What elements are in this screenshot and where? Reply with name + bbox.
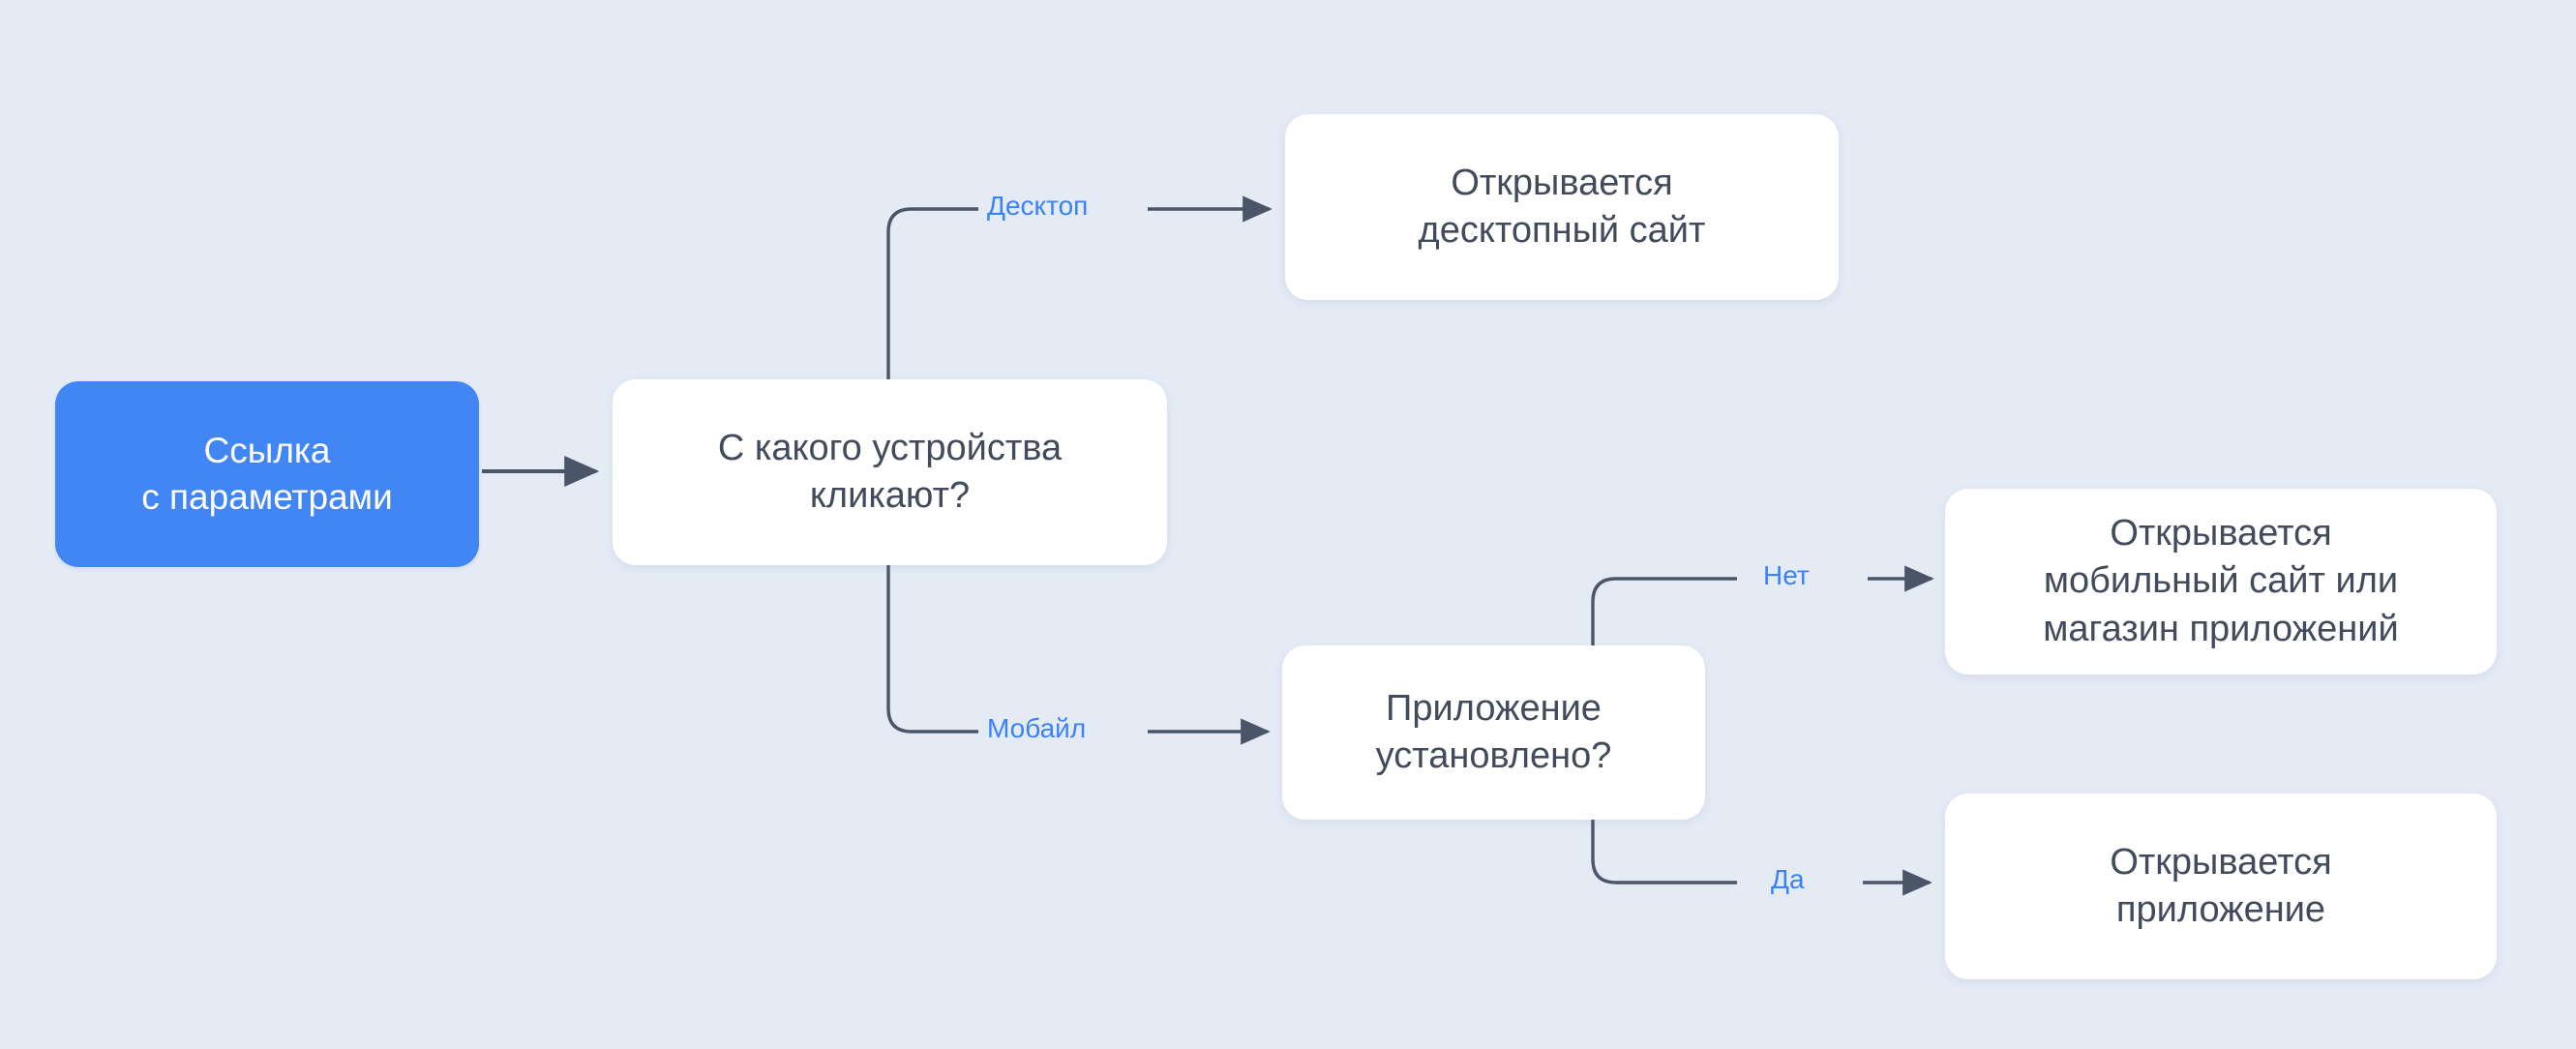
edge-label-desktop: Десктоп — [987, 191, 1088, 222]
connector-device-mobile-branch — [888, 565, 978, 732]
edge-label-no: Нет — [1763, 560, 1810, 591]
flowchart-canvas: Ссылка с параметрами С какого устройства… — [0, 0, 2576, 1049]
node-app-opens-result[interactable]: Открывается приложение — [1945, 794, 2497, 979]
node-mobile-site-or-store-result[interactable]: Открывается мобильный сайт или магазин п… — [1945, 489, 2497, 674]
node-app-installed-question[interactable]: Приложение установлено? — [1282, 645, 1705, 820]
node-link-with-parameters[interactable]: Ссылка с параметрами — [55, 381, 479, 567]
connector-device-desktop-branch — [888, 209, 978, 379]
node-desktop-site-result[interactable]: Открывается десктопный сайт — [1285, 114, 1839, 300]
edge-label-yes: Да — [1771, 864, 1805, 895]
edge-label-mobile: Мобайл — [987, 713, 1086, 744]
connector-app-yes-branch — [1593, 820, 1737, 883]
node-which-device-question[interactable]: С какого устройства кликают? — [613, 379, 1167, 565]
connector-app-no-branch — [1593, 579, 1737, 645]
